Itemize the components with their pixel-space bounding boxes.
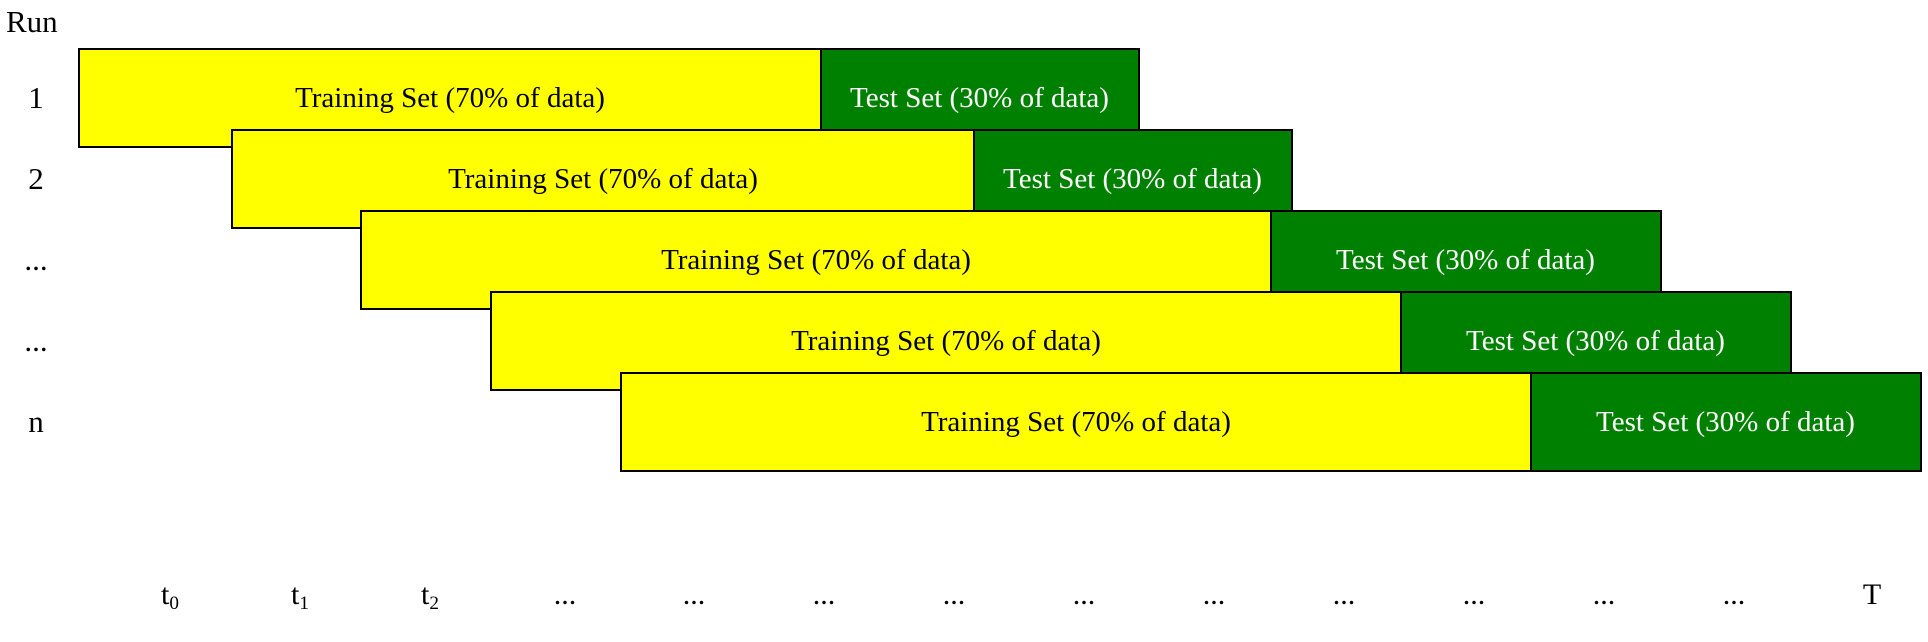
axis-tick-5: ...: [683, 580, 706, 610]
row-label-2: 2: [0, 163, 72, 194]
rolling-window-cv-diagram: Run 1 2 ... ... n Training Set (70% of d…: [0, 0, 1928, 642]
split-row-5: Training Set (70% of data) Test Set (30%…: [620, 372, 1922, 472]
axis-tick-9: ...: [1203, 580, 1226, 610]
training-set-label-1: Training Set (70% of data): [295, 84, 605, 113]
axis-tick-4: ...: [554, 580, 577, 610]
test-set-bar-5: Test Set (30% of data): [1530, 372, 1922, 472]
test-set-label-2: Test Set (30% of data): [1003, 165, 1262, 194]
axis-tick-t1-sub: 1: [299, 593, 309, 614]
training-set-label-2: Training Set (70% of data): [448, 165, 758, 194]
axis-tick-8: ...: [1073, 580, 1096, 610]
axis-tick-t2: t2: [421, 580, 439, 610]
axis-tick-13: ...: [1723, 580, 1746, 610]
axis-tick-12: ...: [1593, 580, 1616, 610]
test-set-label-1: Test Set (30% of data): [850, 84, 1109, 113]
axis-tick-7: ...: [943, 580, 966, 610]
row-label-3: ...: [0, 244, 72, 275]
row-label-5: n: [0, 406, 72, 437]
time-axis: t0 t1 t2 ... ... ... ... ... ... ... ...…: [0, 580, 1928, 630]
run-axis-label: Run: [6, 6, 58, 37]
test-set-label-5: Test Set (30% of data): [1596, 408, 1855, 437]
row-label-1: 1: [0, 82, 72, 113]
axis-tick-6: ...: [813, 580, 836, 610]
axis-tick-10: ...: [1333, 580, 1356, 610]
axis-tick-t0: t0: [161, 580, 179, 610]
axis-tick-t1: t1: [291, 580, 309, 610]
row-label-4: ...: [0, 325, 72, 356]
axis-tick-T: T: [1863, 580, 1881, 610]
axis-tick-t2-sub: 2: [429, 593, 439, 614]
test-set-label-4: Test Set (30% of data): [1466, 327, 1725, 356]
training-set-bar-5: Training Set (70% of data): [620, 372, 1532, 472]
training-set-label-3: Training Set (70% of data): [661, 246, 971, 275]
training-set-label-5: Training Set (70% of data): [921, 408, 1231, 437]
axis-tick-t0-sub: 0: [169, 593, 179, 614]
axis-tick-11: ...: [1463, 580, 1486, 610]
test-set-label-3: Test Set (30% of data): [1336, 246, 1595, 275]
training-set-label-4: Training Set (70% of data): [791, 327, 1101, 356]
